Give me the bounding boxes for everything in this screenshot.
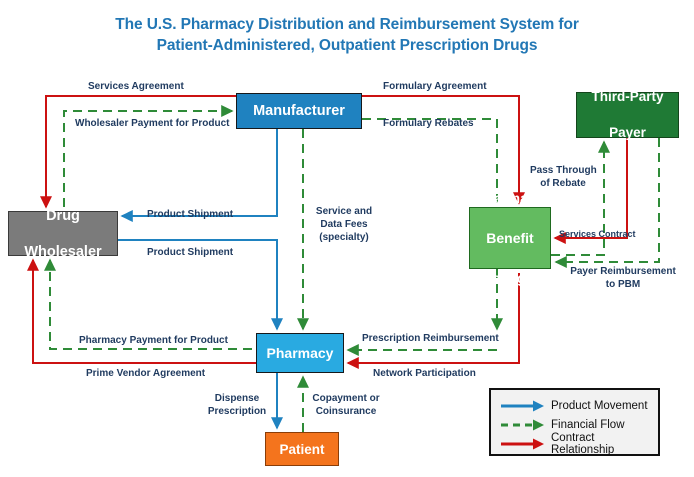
node-drug-wholesaler-label: Drug Wholesaler [9, 207, 117, 261]
legend-label-contract-relationship: Contract Relationship [551, 432, 658, 456]
label-dispense-prescription: Dispense Prescription [205, 392, 269, 418]
legend-item-contract-relationship: Contract Relationship [491, 434, 658, 453]
edge-payer-reimbursement-to-pbm [556, 138, 659, 262]
label-service-fees-line-2: Data Fees [312, 218, 376, 231]
label-services-contract: Services Contract [559, 228, 636, 241]
label-formulary-agreement: Formulary Agreement [383, 80, 487, 93]
node-manufacturer-label: Manufacturer [237, 103, 361, 119]
label-prescription-reimbursement: Prescription Reimbursement [362, 332, 499, 345]
node-patient[interactable]: Patient [265, 432, 339, 466]
label-copayment-line-2: Coinsurance [308, 405, 384, 418]
label-service-fees-line-1: Service and [312, 205, 376, 218]
label-pass-through-of-rebate: Pass Through of Rebate [530, 164, 596, 190]
label-payer-reimbursement-line-1: Payer Reimbursement [557, 265, 689, 278]
label-network-participation: Network Participation [373, 367, 476, 380]
label-payer-reimbursement: Payer Reimbursement to PBM [557, 265, 689, 291]
node-patient-label: Patient [266, 442, 338, 457]
label-dispense-line-2: Prescription [205, 405, 269, 418]
node-third-party-payer-line-1: Third-Party [577, 88, 678, 106]
node-pharmacy[interactable]: Pharmacy [256, 333, 344, 373]
node-pharmacy-label: Pharmacy [257, 345, 343, 361]
node-pbm-line-3: Manager [470, 268, 550, 288]
node-pbm-line-1: Pharmacy [470, 188, 550, 208]
node-pbm-line-2: Benefit [470, 228, 550, 248]
node-pbm-label: Pharmacy Benefit Manager [470, 188, 550, 288]
legend-swatch-contract-relationship [499, 437, 547, 451]
node-third-party-payer-line-2: Payer [577, 124, 678, 142]
edge-services-agreement [46, 96, 236, 207]
legend-swatch-product-movement [499, 399, 547, 413]
label-pharmacy-payment: Pharmacy Payment for Product [79, 334, 228, 347]
legend-swatch-financial-flow [499, 418, 547, 432]
node-third-party-payer[interactable]: Third-Party Payer [576, 92, 679, 138]
label-payer-reimbursement-line-2: to PBM [557, 278, 689, 291]
legend: Product Movement Financial Flow Contract… [489, 388, 660, 456]
label-product-shipment-2: Product Shipment [147, 246, 233, 259]
node-manufacturer[interactable]: Manufacturer [236, 93, 362, 129]
label-prime-vendor-agreement: Prime Vendor Agreement [86, 367, 205, 380]
legend-item-product-movement: Product Movement [491, 396, 658, 415]
legend-label-product-movement: Product Movement [551, 400, 648, 412]
node-drug-wholesaler-line-2: Wholesaler [9, 243, 117, 261]
node-third-party-payer-label: Third-Party Payer [577, 88, 678, 142]
label-product-shipment-1: Product Shipment [147, 208, 233, 221]
node-drug-wholesaler[interactable]: Drug Wholesaler [8, 211, 118, 256]
edge-product-shipment-manufacturer-wholesaler [122, 129, 277, 216]
node-pharmacy-benefit-manager[interactable]: Pharmacy Benefit Manager [469, 207, 551, 269]
edge-prime-vendor-agreement [33, 260, 256, 363]
label-service-and-data-fees: Service and Data Fees (specialty) [312, 205, 376, 244]
edge-formulary-agreement [362, 96, 519, 203]
diagram-canvas: The U.S. Pharmacy Distribution and Reimb… [0, 0, 694, 477]
label-formulary-rebates: Formulary Rebates [383, 117, 474, 130]
label-service-fees-line-3: (specialty) [312, 231, 376, 244]
label-copayment-coinsurance: Copayment or Coinsurance [308, 392, 384, 418]
label-wholesaler-payment: Wholesaler Payment for Product [75, 117, 229, 130]
node-drug-wholesaler-line-1: Drug [9, 207, 117, 225]
legend-label-financial-flow: Financial Flow [551, 419, 625, 431]
label-dispense-line-1: Dispense [205, 392, 269, 405]
label-pass-through-line-1: Pass Through [530, 164, 596, 177]
label-copayment-line-1: Copayment or [308, 392, 384, 405]
label-services-agreement: Services Agreement [88, 80, 184, 93]
label-pass-through-line-2: of Rebate [530, 177, 596, 190]
